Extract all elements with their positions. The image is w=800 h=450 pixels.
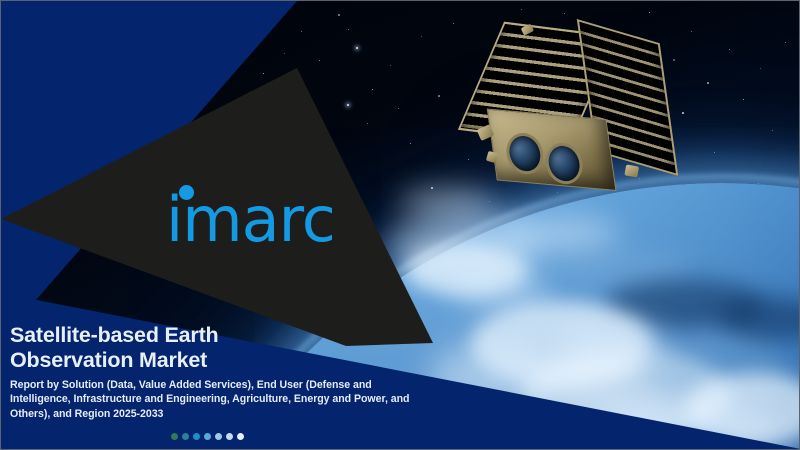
cloud-formation bbox=[557, 319, 667, 369]
dot-3[interactable] bbox=[193, 433, 200, 440]
dot-5[interactable] bbox=[215, 433, 222, 440]
dot-1[interactable] bbox=[171, 433, 178, 440]
dot-4[interactable] bbox=[204, 433, 211, 440]
report-subtitle: Report by Solution (Data, Value Added Se… bbox=[10, 378, 410, 421]
cover-copy-block: Satellite-based EarthObservation Market … bbox=[10, 323, 410, 421]
satellite-icon bbox=[462, 9, 691, 220]
report-cover-banner: imarc Satellite-based EarthObservation M… bbox=[0, 0, 800, 450]
dot-2[interactable] bbox=[182, 433, 189, 440]
page-title: Satellite-based EarthObservation Market bbox=[10, 323, 410, 373]
progress-dots[interactable] bbox=[171, 433, 244, 440]
dot-7[interactable] bbox=[237, 433, 244, 440]
page-title-line-1: Satellite-based Earth bbox=[10, 323, 218, 347]
logo-wordmark: imarc bbox=[166, 189, 335, 251]
satellite-bracket bbox=[624, 164, 639, 177]
cloud-formation bbox=[501, 216, 619, 254]
page-title-line-2: Observation Market bbox=[10, 348, 207, 372]
dot-6[interactable] bbox=[226, 433, 233, 440]
imarc-logo[interactable]: imarc bbox=[166, 179, 356, 255]
